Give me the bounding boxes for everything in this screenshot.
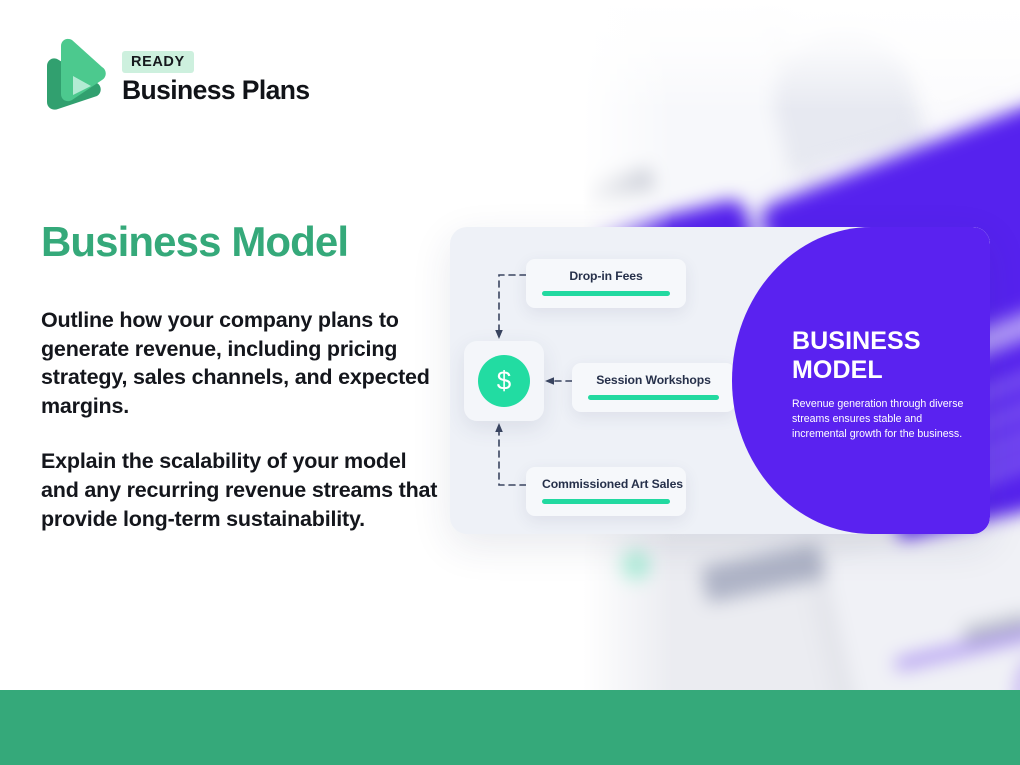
dollar-sign-icon: $ [478, 355, 530, 407]
brand-name: Business Plans [122, 75, 310, 106]
body-paragraph-2: Explain the scalability of your model an… [41, 447, 441, 533]
body-paragraph-1: Outline how your company plans to genera… [41, 306, 441, 420]
purple-panel-title-line-1: BUSINESS [792, 327, 921, 355]
business-model-purple-panel: BUSINESS MODEL Revenue generation throug… [732, 227, 990, 534]
node-label: Commissioned Art Sales [542, 477, 670, 491]
double-play-triangle-logo-icon [42, 38, 108, 119]
business-model-diagram-card: $ Drop-in Fees Session Workshops Commiss… [450, 227, 990, 534]
svg-text:$: $ [497, 366, 512, 396]
brand-logo-block: READY Business Plans [42, 38, 310, 119]
slide-root: READY Business Plans Business Model Outl… [0, 0, 1020, 765]
revenue-center-node[interactable]: $ [464, 341, 544, 421]
node-underline [588, 395, 719, 400]
revenue-stream-node[interactable]: Drop-in Fees [526, 259, 686, 308]
node-underline [542, 291, 670, 296]
footer-bar [0, 690, 1020, 765]
purple-panel-description: Revenue generation through diverse strea… [792, 397, 976, 442]
purple-panel-title-line-2: MODEL [792, 356, 883, 384]
node-underline [542, 499, 670, 504]
ready-badge: READY [122, 51, 194, 73]
brand-logo-text: READY Business Plans [122, 51, 310, 107]
body-copy: Outline how your company plans to genera… [41, 306, 441, 533]
node-label: Session Workshops [588, 373, 719, 387]
revenue-stream-node[interactable]: Session Workshops [572, 363, 735, 412]
node-label: Drop-in Fees [542, 269, 670, 283]
page-title: Business Model [41, 219, 348, 265]
purple-panel-title: BUSINESS MODEL [792, 327, 968, 385]
revenue-stream-node[interactable]: Commissioned Art Sales [526, 467, 686, 516]
